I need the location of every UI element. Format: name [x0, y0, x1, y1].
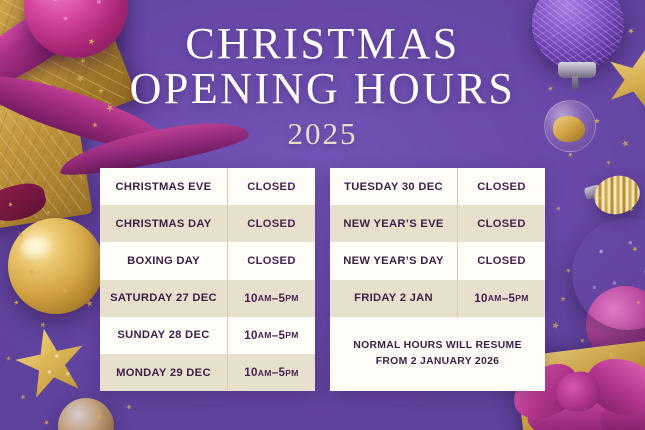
confetti-star [565, 267, 572, 274]
table-row: NEW YEAR’S EVECLOSED [330, 205, 545, 242]
open-time-meridiem: AM [258, 368, 272, 378]
confetti-star [85, 299, 95, 309]
headline-text: CHRISTMAS OPENING HOURS [0, 22, 645, 112]
dark-ribbon-left-edge [0, 179, 49, 227]
day-label: NEW YEAR’S DAY [330, 242, 458, 279]
gift-bow-tail-right [595, 388, 645, 430]
opening-hours-tables: CHRISTMAS EVECLOSEDCHRISTMAS DAYCLOSEDBO… [100, 168, 546, 391]
headline-line-2: OPENING HOURS [0, 67, 645, 112]
gift-bow-knot [553, 368, 603, 415]
close-time-number: 5 [508, 292, 515, 305]
right-hours-table: TUESDAY 30 DECCLOSEDNEW YEAR’S EVECLOSED… [330, 168, 545, 391]
magenta-bauble-lower-right [586, 286, 645, 364]
table-row: CHRISTMAS DAYCLOSED [100, 205, 315, 242]
confetti-star [579, 337, 585, 343]
confetti-star [61, 287, 69, 295]
open-time-meridiem: AM [258, 293, 272, 303]
time-dash: – [272, 329, 279, 342]
confetti-star [597, 195, 604, 202]
status-value: CLOSED [228, 168, 315, 205]
close-time-number: 5 [278, 366, 285, 379]
notice-line-2-prefix: FROM [376, 356, 411, 367]
table-row: NEW YEAR’S DAYCLOSED [330, 242, 545, 279]
confetti-star [627, 205, 635, 213]
day-label: MONDAY 29 DEC [100, 354, 228, 391]
confetti-star [608, 352, 614, 358]
close-time-meridiem: PM [285, 368, 299, 378]
day-label: NEW YEAR’S EVE [330, 205, 458, 242]
status-value: CLOSED [458, 242, 545, 279]
closed-label: CLOSED [247, 181, 295, 193]
confetti-star [552, 382, 557, 387]
time-dash: – [272, 366, 279, 379]
confetti-star [552, 322, 560, 330]
table-row: TUESDAY 30 DECCLOSED [330, 168, 545, 205]
poster-heading: CHRISTMAS OPENING HOURS 2025 [0, 22, 645, 152]
striped-gold-ornament-right [590, 170, 645, 219]
confetti-star [27, 267, 37, 277]
confetti-star [618, 390, 623, 395]
magenta-bauble-glitter-texture [572, 218, 645, 330]
open-time-number: 10 [244, 292, 258, 305]
open-time-meridiem: AM [488, 293, 502, 303]
closed-label: CLOSED [247, 218, 295, 230]
table-row: SUNDAY 28 DEC10AM–5PM [100, 317, 315, 354]
table-row: CHRISTMAS EVECLOSED [100, 168, 315, 205]
closed-label: CLOSED [477, 181, 525, 193]
open-time-meridiem: AM [258, 330, 272, 340]
confetti-star [8, 202, 13, 207]
gold-glitter-star-texture-left [9, 321, 92, 404]
confetti-star [631, 245, 639, 253]
closed-label: CLOSED [477, 218, 525, 230]
confetti-star [13, 299, 20, 306]
confetti-star [40, 322, 47, 329]
day-label: SUNDAY 28 DEC [100, 317, 228, 354]
confetti-star [19, 393, 27, 401]
confetti-star [5, 355, 12, 362]
confetti-star [69, 249, 76, 256]
day-label: CHRISTMAS EVE [100, 168, 228, 205]
gold-glitter-bauble-bottom-left [58, 398, 114, 430]
close-time-meridiem: PM [285, 293, 299, 303]
close-time-number: 5 [278, 292, 285, 305]
table-row: MONDAY 29 DEC10AM–5PM [100, 354, 315, 391]
open-time-number: 10 [244, 366, 258, 379]
status-value: CLOSED [458, 168, 545, 205]
day-label: BOXING DAY [100, 242, 228, 279]
day-label: SATURDAY 27 DEC [100, 280, 228, 317]
magenta-glitter-bauble-right [572, 218, 645, 330]
table-row: SATURDAY 27 DEC10AM–5PM [100, 280, 315, 317]
hours-value: 10AM–5PM [458, 280, 545, 317]
hours-value: 10AM–5PM [228, 280, 315, 317]
confetti-star [605, 159, 612, 166]
day-label: FRIDAY 2 JAN [330, 280, 458, 317]
status-value: CLOSED [228, 205, 315, 242]
confetti-star [555, 205, 562, 212]
confetti-star [125, 403, 133, 411]
confetti-star [51, 367, 59, 375]
table-row: FRIDAY 2 JAN10AM–5PM [330, 280, 545, 317]
open-time-number: 10 [474, 292, 488, 305]
confetti-star [590, 416, 597, 423]
gift-bow-loop-right [581, 352, 645, 422]
notice-line-1: NORMAL HOURS WILL RESUME [353, 340, 521, 351]
day-label: CHRISTMAS DAY [100, 205, 228, 242]
time-dash: – [272, 292, 279, 305]
gold-bauble-left [8, 218, 104, 314]
striped-ornament-cap [584, 184, 603, 200]
confetti-star [17, 231, 25, 239]
confetti-star [43, 419, 50, 426]
gold-glitter-star-left [9, 321, 92, 404]
table-row: BOXING DAYCLOSED [100, 242, 315, 279]
status-value: CLOSED [228, 242, 315, 279]
confetti-star [559, 295, 567, 303]
open-time-number: 10 [244, 329, 258, 342]
gold-bauble-highlight [20, 236, 54, 262]
headline-line-1: CHRISTMAS [185, 19, 459, 68]
gift-bow-tail-left [525, 392, 626, 430]
hours-value: 10AM–5PM [228, 354, 315, 391]
christmas-opening-hours-poster: CHRISTMAS OPENING HOURS 2025 CHRISTMAS E… [0, 0, 645, 430]
close-time-number: 5 [278, 329, 285, 342]
closed-label: CLOSED [477, 255, 525, 267]
notice-resume-date: 2 JANUARY 2026 [411, 356, 500, 367]
confetti-star [567, 151, 574, 158]
close-time-meridiem: PM [285, 330, 299, 340]
confetti-star [95, 413, 103, 421]
confetti-star [636, 300, 641, 305]
close-time-meridiem: PM [515, 293, 529, 303]
resume-notice: NORMAL HOURS WILL RESUMEFROM 2 JANUARY 2… [330, 317, 545, 391]
left-hours-table: CHRISTMAS EVECLOSEDCHRISTMAS DAYCLOSEDBO… [100, 168, 315, 391]
confetti-star [45, 209, 52, 216]
status-value: CLOSED [458, 205, 545, 242]
closed-label: CLOSED [247, 255, 295, 267]
headline-year: 2025 [0, 116, 645, 152]
hours-value: 10AM–5PM [228, 317, 315, 354]
day-label: TUESDAY 30 DEC [330, 168, 458, 205]
time-dash: – [502, 292, 509, 305]
